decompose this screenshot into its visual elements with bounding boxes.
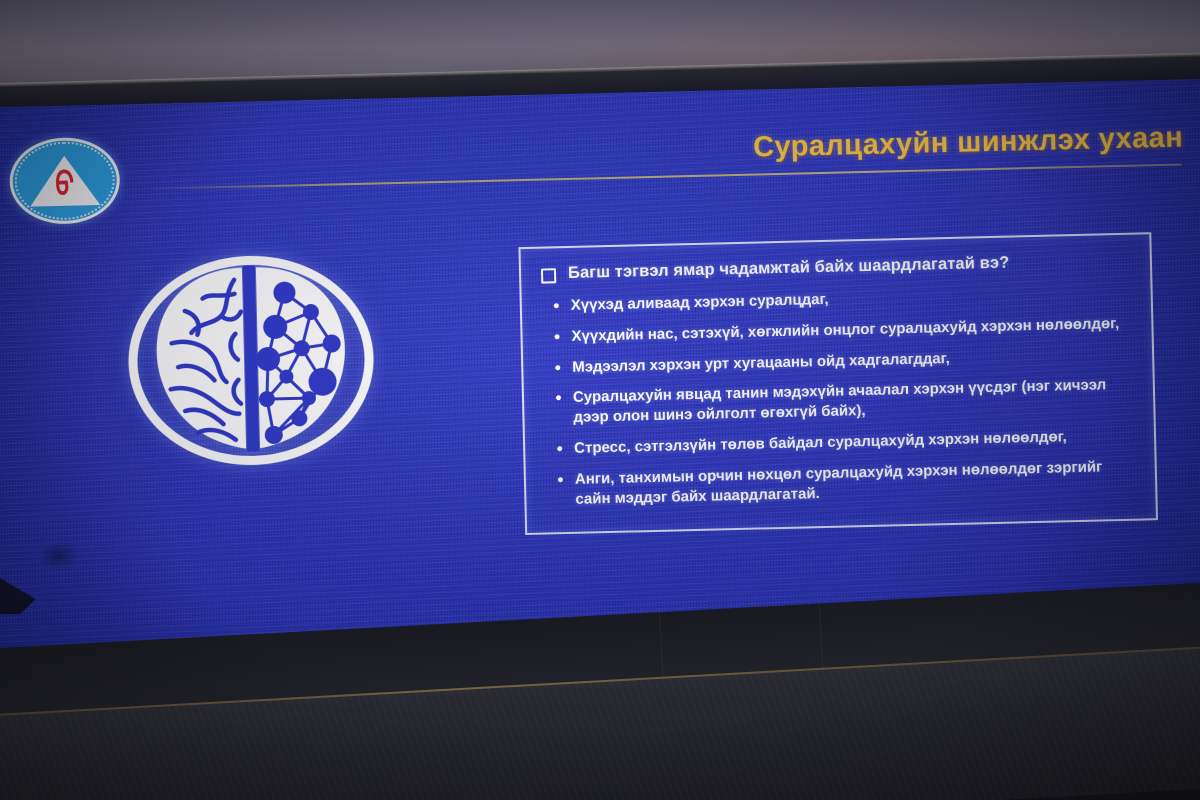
screenshot-root: ᠪ Суралцахуйн шинжлэх ухаан [0,0,1200,800]
